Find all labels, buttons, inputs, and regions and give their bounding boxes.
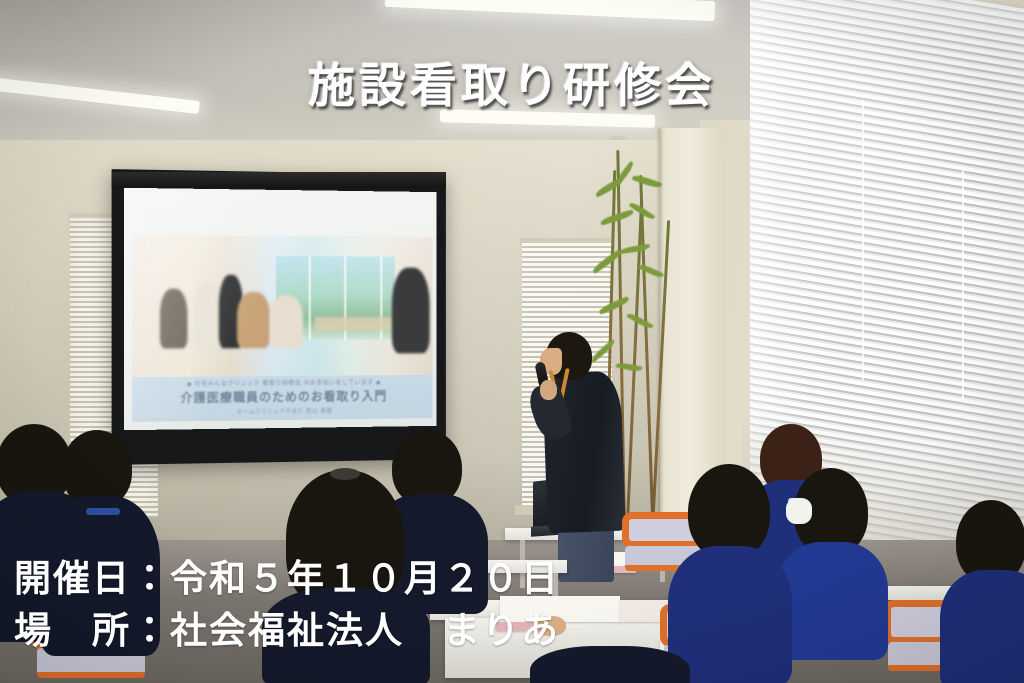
slide-window-mullion xyxy=(309,256,311,340)
slide-caption-band: ◆ 在宅みんなクリニック 看取り研修会 のお手伝いをしています ◆ 介護医療職員… xyxy=(132,375,432,422)
bamboo-leaf xyxy=(626,311,653,330)
bamboo-leaf xyxy=(620,244,651,254)
slide-figure xyxy=(237,292,270,348)
slide-photograph xyxy=(132,235,432,377)
slide-figure xyxy=(270,295,303,348)
slide-figure xyxy=(392,267,430,353)
bamboo-leaf xyxy=(598,296,630,314)
slide-presenter-credit: ホームクリニックやまだ 若山 康雄 xyxy=(132,405,432,417)
projector-screen-housing xyxy=(112,172,446,188)
slide-main-title: 介護医療職員のためのお看取り入門 xyxy=(132,387,432,407)
attendee-torso xyxy=(940,570,1024,683)
attendee-torso xyxy=(776,542,888,660)
face-mask-icon xyxy=(786,498,812,524)
presenter-hand xyxy=(540,380,557,400)
slide-figure xyxy=(160,289,188,349)
bamboo-leaf xyxy=(632,173,663,190)
page-title: 施設看取り研修会 xyxy=(0,47,1024,116)
blind-cord xyxy=(962,170,964,400)
projector-screen-surface: ◆ 在宅みんなクリニック 看取り研修会 のお手伝いをしています ◆ 介護医療職員… xyxy=(124,188,436,430)
event-photo: ◆ 在宅みんなクリニック 看取り研修会 のお手伝いをしています ◆ 介護医療職員… xyxy=(0,0,1024,683)
hair-tie xyxy=(330,468,360,480)
slide-table xyxy=(315,317,392,331)
caption-date: 開催日：令和５年１０月２０日 xyxy=(14,548,560,602)
caption-place: 場 所：社会福祉法人 まりあ xyxy=(14,600,560,654)
blind-cord xyxy=(862,100,864,380)
lanyard xyxy=(86,508,120,515)
